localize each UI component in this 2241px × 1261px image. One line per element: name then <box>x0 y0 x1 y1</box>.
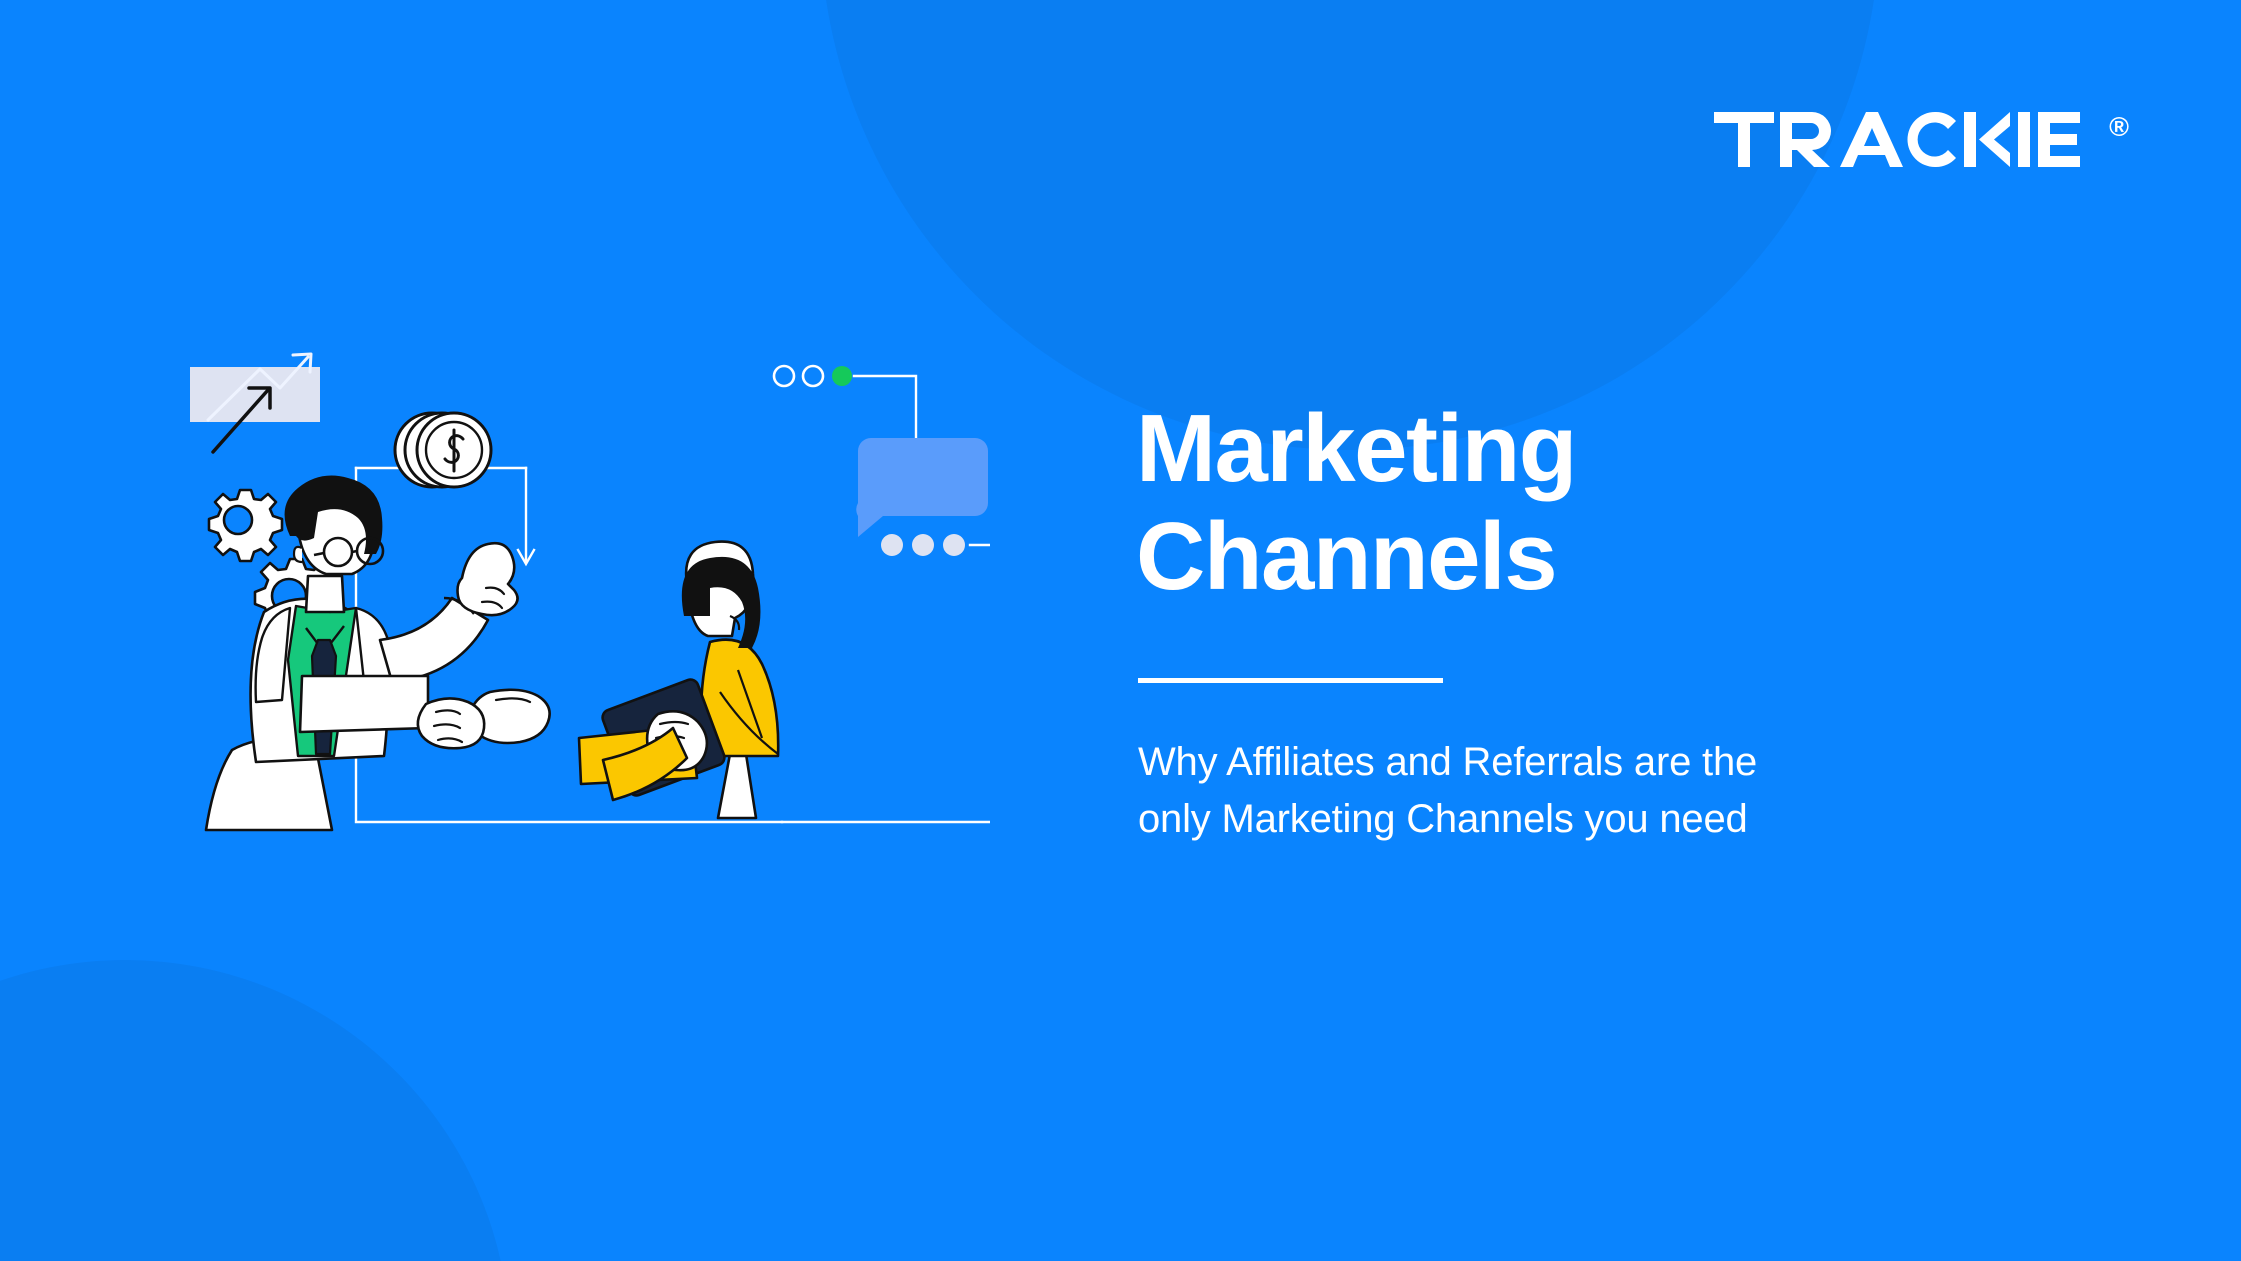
bracket-frame-right <box>782 545 990 822</box>
coin-stack <box>395 413 491 487</box>
trackier-wordmark-icon <box>1714 112 2104 167</box>
status-dots-top <box>774 366 852 386</box>
handshake <box>418 690 550 749</box>
trackier-logo[interactable]: ® <box>1714 112 2129 167</box>
speech-bubble <box>856 438 988 537</box>
businesswoman <box>579 542 778 818</box>
status-dots-right <box>881 534 965 556</box>
slide-canvas: ® Marketing Channels Why Affiliates and … <box>0 0 2241 1261</box>
hero-copy: Marketing Channels Why Affiliates and Re… <box>1136 395 2086 848</box>
registered-trademark-icon: ® <box>2109 114 2129 141</box>
background-circle-bottom-left <box>0 960 510 1261</box>
title-divider <box>1138 678 1443 683</box>
gear-large <box>209 490 282 561</box>
page-subtitle: Why Affiliates and Referrals are the onl… <box>1138 734 2086 848</box>
page-title: Marketing Channels <box>1136 395 2086 612</box>
hero-illustration <box>190 340 990 900</box>
connector-line-top <box>854 376 916 438</box>
